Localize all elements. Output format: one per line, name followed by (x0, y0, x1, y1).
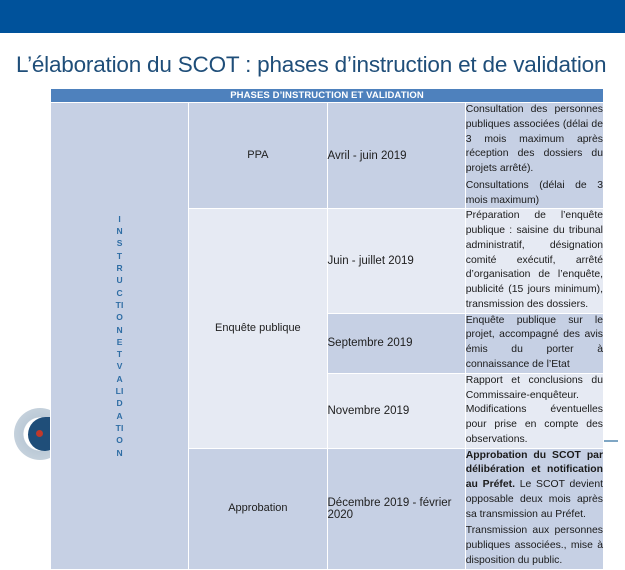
description-paragraph: Rapport et conclusions du Commissaire-en… (466, 374, 603, 448)
phase-label-ppa: PPA (189, 103, 327, 209)
description-paragraph: Consultations (délai de 3 mois maximum) (466, 179, 603, 209)
vertical-letter: A (116, 373, 122, 385)
vertical-letter: V (117, 360, 123, 372)
page-title: L’élaboration du SCOT : phases d’instruc… (16, 52, 616, 78)
description-cell: Rapport et conclusions du Commissaire-en… (465, 373, 603, 448)
table-row: I N S T R U C TI O N E T V A LI D A (51, 103, 604, 209)
vertical-letter-stack: I N S T R U C TI O N E T V A LI D A (51, 213, 188, 459)
date-cell: Septembre 2019 (327, 313, 465, 373)
vertical-letter: N (116, 324, 122, 336)
vertical-letter: E (117, 336, 123, 348)
vertical-letter: C (116, 287, 122, 299)
logo-red-dot-icon (36, 430, 43, 437)
date-cell: Avril - juin 2019 (327, 103, 465, 209)
phase-label-approbation: Approbation (189, 448, 327, 569)
date-cell: Novembre 2019 (327, 373, 465, 448)
phases-table-container: PHASES D’INSTRUCTION ET VALIDATION I N S… (50, 88, 604, 570)
table-header-title: PHASES D’INSTRUCTION ET VALIDATION (51, 89, 604, 103)
description-paragraph: Transmission aux personnes publiques ass… (466, 524, 603, 568)
vertical-letter: S (117, 237, 123, 249)
table-header-row: PHASES D’INSTRUCTION ET VALIDATION (51, 89, 604, 103)
phases-table: PHASES D’INSTRUCTION ET VALIDATION I N S… (50, 88, 604, 570)
description-paragraph: Approbation du SCOT par délibération et … (466, 449, 603, 523)
vertical-letter: A (116, 410, 122, 422)
vertical-label-instruction-et-validation: I N S T R U C TI O N E T V A LI D A (51, 103, 189, 570)
vertical-letter: N (116, 447, 122, 459)
vertical-letter: LI (116, 385, 124, 397)
phase-label-enquete-publique: Enquête publique (189, 209, 327, 448)
vertical-letter: O (116, 434, 123, 446)
vertical-letter: TI (116, 422, 124, 434)
description-cell: Approbation du SCOT par délibération et … (465, 448, 603, 569)
vertical-letter: T (117, 250, 122, 262)
vertical-letter: U (116, 274, 122, 286)
description-cell: Enquête publique sur le projet, accompag… (465, 313, 603, 373)
description-paragraph: Enquête publique sur le projet, accompag… (466, 314, 603, 373)
vertical-letter: R (116, 262, 122, 274)
description-paragraph: Consultation des personnes publiques ass… (466, 103, 603, 177)
date-cell: Juin - juillet 2019 (327, 209, 465, 313)
vertical-letter: D (116, 397, 122, 409)
vertical-letter: I (118, 213, 121, 225)
vertical-letter: O (116, 311, 123, 323)
description-cell: Préparation de l’enquête publique : sais… (465, 209, 603, 313)
description-paragraph: Préparation de l’enquête publique : sais… (466, 209, 603, 312)
vertical-letter: T (117, 348, 122, 360)
vertical-letter: TI (116, 299, 124, 311)
top-blue-band (0, 0, 625, 33)
vertical-letter: N (116, 225, 122, 237)
date-cell: Décembre 2019 - février 2020 (327, 448, 465, 569)
description-cell: Consultation des personnes publiques ass… (465, 103, 603, 209)
